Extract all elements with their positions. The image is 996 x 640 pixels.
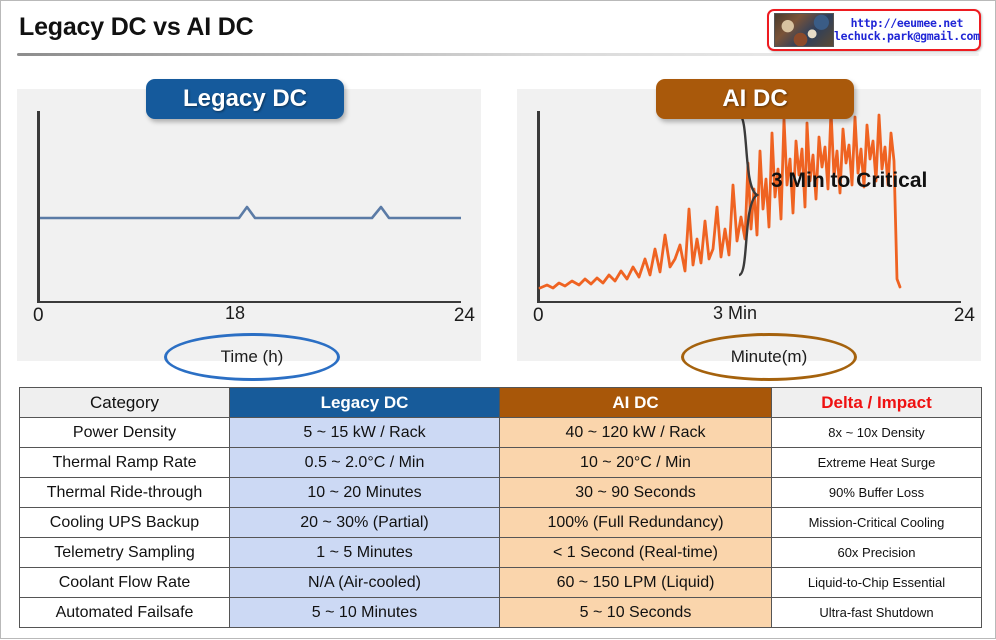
table-body: Power Density5 ~ 15 kW / Rack40 ~ 120 kW…: [20, 418, 982, 628]
legacy-tick-mid: 18: [225, 303, 245, 324]
legacy-line-plot: [17, 89, 481, 361]
cell-ai: 40 ~ 120 kW / Rack: [500, 418, 772, 448]
contact-badge-text: http://eeumee.net lechuck.park@gmail.com: [834, 17, 980, 43]
cell-delta: 90% Buffer Loss: [772, 478, 982, 508]
col-header-ai: AI DC: [500, 388, 772, 418]
ai-tick-mid: 3 Min: [713, 303, 757, 324]
cell-legacy: 5 ~ 10 Minutes: [230, 598, 500, 628]
ai-tick-start: 0: [533, 305, 544, 327]
table-row: Automated Failsafe5 ~ 10 Minutes5 ~ 10 S…: [20, 598, 982, 628]
badge-email[interactable]: lechuck.park@gmail.com: [834, 30, 980, 43]
ai-tick-end: 24: [954, 305, 975, 327]
cell-legacy: 5 ~ 15 kW / Rack: [230, 418, 500, 448]
ai-dc-pill: AI DC: [656, 79, 854, 119]
cell-delta: Liquid-to-Chip Essential: [772, 568, 982, 598]
cell-category: Thermal Ride-through: [20, 478, 230, 508]
col-header-category: Category: [20, 388, 230, 418]
cell-delta: Ultra-fast Shutdown: [772, 598, 982, 628]
cell-delta: Mission-Critical Cooling: [772, 508, 982, 538]
slide-root: Legacy DC vs AI DC http://eeumee.net lec…: [1, 1, 996, 640]
page-title: Legacy DC vs AI DC: [19, 13, 253, 42]
cell-delta: Extreme Heat Surge: [772, 448, 982, 478]
legacy-tick-end: 24: [454, 305, 475, 327]
table-row: Cooling UPS Backup20 ~ 30% (Partial)100%…: [20, 508, 982, 538]
cell-category: Automated Failsafe: [20, 598, 230, 628]
ai-chart-axes: 3 Min to Critical 0 3 Min 24 Minute(m): [517, 89, 981, 361]
title-divider: [17, 53, 979, 56]
cell-category: Thermal Ramp Rate: [20, 448, 230, 478]
cell-category: Power Density: [20, 418, 230, 448]
cell-legacy: 0.5 ~ 2.0°C / Min: [230, 448, 500, 478]
ai-critical-annotation: 3 Min to Critical: [771, 169, 927, 193]
table-header-row: Category Legacy DC AI DC Delta / Impact: [20, 388, 982, 418]
cell-legacy: N/A (Air-cooled): [230, 568, 500, 598]
legacy-chart-axes: 0 18 24 Time (h): [17, 89, 481, 361]
cell-legacy: 10 ~ 20 Minutes: [230, 478, 500, 508]
ai-dc-chart-panel: 3 Min to Critical 0 3 Min 24 Minute(m): [517, 89, 981, 361]
critical-range-brace-icon: [735, 111, 761, 279]
legacy-axis-caption: Time (h): [164, 333, 340, 381]
col-header-delta: Delta / Impact: [772, 388, 982, 418]
ai-axis-caption: Minute(m): [681, 333, 857, 381]
col-header-legacy: Legacy DC: [230, 388, 500, 418]
cell-category: Coolant Flow Rate: [20, 568, 230, 598]
cell-ai: 60 ~ 150 LPM (Liquid): [500, 568, 772, 598]
cell-category: Cooling UPS Backup: [20, 508, 230, 538]
cell-ai: 30 ~ 90 Seconds: [500, 478, 772, 508]
cell-ai: 5 ~ 10 Seconds: [500, 598, 772, 628]
photo-thumbnail-icon: [774, 13, 834, 47]
table-row: Coolant Flow RateN/A (Air-cooled)60 ~ 15…: [20, 568, 982, 598]
table-row: Thermal Ramp Rate0.5 ~ 2.0°C / Min10 ~ 2…: [20, 448, 982, 478]
legacy-dc-chart-panel: 0 18 24 Time (h): [17, 89, 481, 361]
cell-category: Telemetry Sampling: [20, 538, 230, 568]
cell-legacy: 1 ~ 5 Minutes: [230, 538, 500, 568]
table-row: Thermal Ride-through10 ~ 20 Minutes30 ~ …: [20, 478, 982, 508]
legacy-dc-pill: Legacy DC: [146, 79, 344, 119]
cell-delta: 8x ~ 10x Density: [772, 418, 982, 448]
table-row: Telemetry Sampling1 ~ 5 Minutes< 1 Secon…: [20, 538, 982, 568]
contact-badge: http://eeumee.net lechuck.park@gmail.com: [767, 9, 981, 51]
cell-ai: 10 ~ 20°C / Min: [500, 448, 772, 478]
cell-legacy: 20 ~ 30% (Partial): [230, 508, 500, 538]
cell-delta: 60x Precision: [772, 538, 982, 568]
cell-ai: 100% (Full Redundancy): [500, 508, 772, 538]
comparison-table-wrapper: Category Legacy DC AI DC Delta / Impact …: [19, 387, 981, 628]
comparison-table: Category Legacy DC AI DC Delta / Impact …: [19, 387, 982, 628]
legacy-tick-start: 0: [33, 305, 44, 327]
cell-ai: < 1 Second (Real-time): [500, 538, 772, 568]
table-row: Power Density5 ~ 15 kW / Rack40 ~ 120 kW…: [20, 418, 982, 448]
